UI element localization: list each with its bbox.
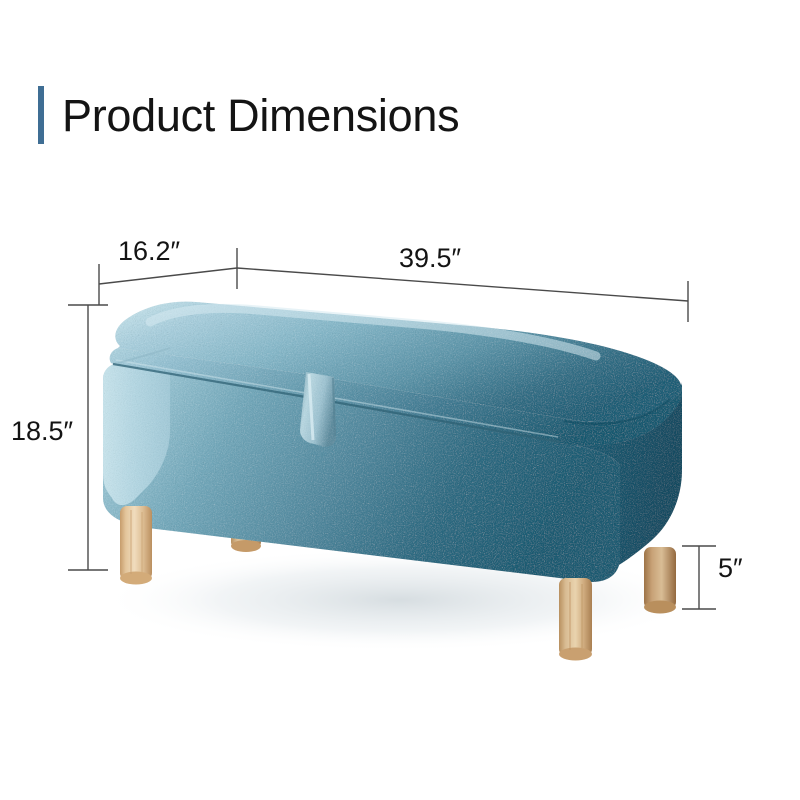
leg-height-dimension-label: 5″ [718, 555, 743, 582]
width-dimension-label: 39.5″ [399, 245, 461, 272]
product-dimensions-page: Product Dimensions 16.2″ 39.5″ 18.5″ 5″ [0, 0, 800, 800]
width-dimension-line [237, 268, 688, 322]
page-title: Product Dimensions [62, 93, 459, 138]
height-dimension-line [68, 305, 108, 570]
title-accent-bar [38, 86, 44, 144]
leg-height-dimension-line [682, 546, 716, 609]
page-header: Product Dimensions [38, 84, 459, 146]
depth-dimension-label: 16.2″ [118, 238, 180, 265]
height-dimension-label: 18.5″ [11, 418, 73, 445]
